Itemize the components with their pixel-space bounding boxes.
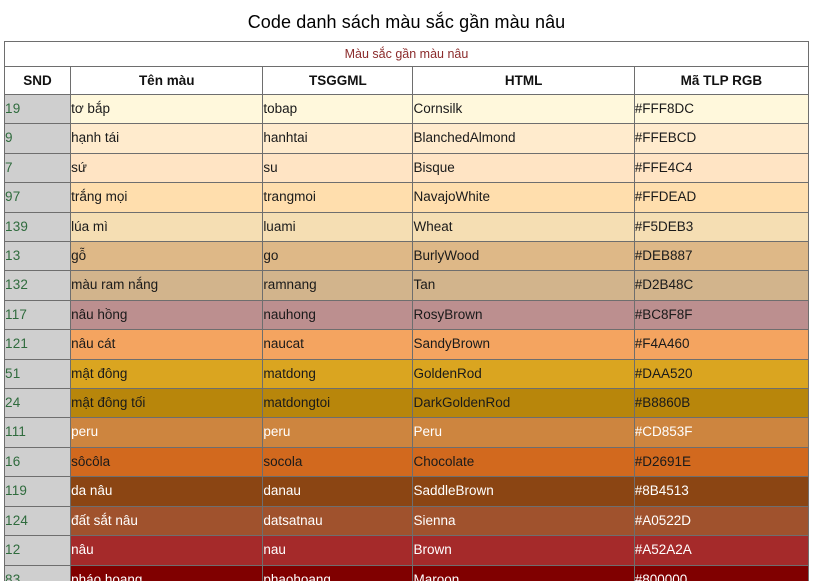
cell-html-name: Cornsilk [413, 95, 634, 124]
cell-rgb-code: #F5DEB3 [634, 212, 808, 241]
cell-tsggml: matdong [263, 359, 413, 388]
cell-rgb-code: #B8860B [634, 389, 808, 418]
cell-html-name: SaddleBrown [413, 477, 634, 506]
cell-rgb-code: #F4A460 [634, 330, 808, 359]
column-header-tsggml[interactable]: TSGGML [263, 67, 413, 95]
cell-ten-mau: trắng mọi [71, 183, 263, 212]
cell-tsggml: tobap [263, 95, 413, 124]
table-row[interactable]: 97trắng mọitrangmoiNavajoWhite#FFDEAD [5, 183, 809, 212]
cell-ten-mau: peru [71, 418, 263, 447]
cell-tsggml: nau [263, 536, 413, 565]
cell-snd: 16 [5, 447, 71, 476]
column-header-ma-tlp-rgb[interactable]: Mã TLP RGB [634, 67, 808, 95]
cell-snd: 119 [5, 477, 71, 506]
cell-rgb-code: #8B4513 [634, 477, 808, 506]
cell-html-name: BlanchedAlmond [413, 124, 634, 153]
table-row[interactable]: 16sôcôlasocolaChocolate#D2691E [5, 447, 809, 476]
cell-rgb-code: #DAA520 [634, 359, 808, 388]
cell-tsggml: trangmoi [263, 183, 413, 212]
table-row[interactable]: 24mật đông tốimatdongtoiDarkGoldenRod#B8… [5, 389, 809, 418]
cell-tsggml: nauhong [263, 300, 413, 329]
cell-ten-mau: sứ [71, 153, 263, 182]
cell-ten-mau: màu ram nắng [71, 271, 263, 300]
color-table: Màu sắc gần màu nâuSNDTên màuTSGGMLHTMLM… [4, 41, 809, 581]
table-row[interactable]: 124đất sắt nâudatsatnauSienna#A0522D [5, 506, 809, 535]
table-row[interactable]: 111peruperuPeru#CD853F [5, 418, 809, 447]
table-row[interactable]: 139lúa mìluamiWheat#F5DEB3 [5, 212, 809, 241]
cell-tsggml: ramnang [263, 271, 413, 300]
cell-html-name: Peru [413, 418, 634, 447]
cell-tsggml: phaohoang [263, 565, 413, 581]
cell-snd: 132 [5, 271, 71, 300]
cell-snd: 24 [5, 389, 71, 418]
cell-snd: 9 [5, 124, 71, 153]
cell-ten-mau: lúa mì [71, 212, 263, 241]
cell-ten-mau: sôcôla [71, 447, 263, 476]
cell-html-name: SandyBrown [413, 330, 634, 359]
cell-html-name: Tan [413, 271, 634, 300]
cell-rgb-code: #A52A2A [634, 536, 808, 565]
cell-ten-mau: nâu hồng [71, 300, 263, 329]
cell-tsggml: go [263, 242, 413, 271]
table-row[interactable]: 132màu ram nắngramnangTan#D2B48C [5, 271, 809, 300]
cell-rgb-code: #BC8F8F [634, 300, 808, 329]
table-row[interactable]: 13gỗgoBurlyWood#DEB887 [5, 242, 809, 271]
cell-html-name: RosyBrown [413, 300, 634, 329]
table-row[interactable]: 19tơ bắptobapCornsilk#FFF8DC [5, 95, 809, 124]
column-header-ten-mau[interactable]: Tên màu [71, 67, 263, 95]
cell-rgb-code: #DEB887 [634, 242, 808, 271]
column-header-snd[interactable]: SND [5, 67, 71, 95]
cell-ten-mau: mật đông [71, 359, 263, 388]
cell-tsggml: peru [263, 418, 413, 447]
cell-html-name: NavajoWhite [413, 183, 634, 212]
cell-snd: 83 [5, 565, 71, 581]
cell-html-name: Brown [413, 536, 634, 565]
table-row[interactable]: 51mật đôngmatdongGoldenRod#DAA520 [5, 359, 809, 388]
cell-ten-mau: tơ bắp [71, 95, 263, 124]
cell-tsggml: hanhtai [263, 124, 413, 153]
cell-rgb-code: #CD853F [634, 418, 808, 447]
table-row[interactable]: 83pháo hoangphaohoangMaroon#800000 [5, 565, 809, 581]
cell-ten-mau: pháo hoang [71, 565, 263, 581]
cell-rgb-code: #D2691E [634, 447, 808, 476]
cell-ten-mau: nâu [71, 536, 263, 565]
cell-rgb-code: #800000 [634, 565, 808, 581]
cell-html-name: DarkGoldenRod [413, 389, 634, 418]
table-row[interactable]: 121nâu cátnaucatSandyBrown#F4A460 [5, 330, 809, 359]
cell-ten-mau: da nâu [71, 477, 263, 506]
cell-snd: 111 [5, 418, 71, 447]
cell-snd: 117 [5, 300, 71, 329]
table-header-row: SNDTên màuTSGGMLHTMLMã TLP RGB [5, 67, 809, 95]
cell-snd: 97 [5, 183, 71, 212]
cell-html-name: Wheat [413, 212, 634, 241]
cell-snd: 121 [5, 330, 71, 359]
cell-snd: 139 [5, 212, 71, 241]
cell-snd: 13 [5, 242, 71, 271]
table-row[interactable]: 12nâunauBrown#A52A2A [5, 536, 809, 565]
page-title: Code danh sách màu sắc gần màu nâu [0, 0, 813, 33]
cell-snd: 7 [5, 153, 71, 182]
cell-snd: 19 [5, 95, 71, 124]
cell-snd: 124 [5, 506, 71, 535]
cell-ten-mau: hạnh tái [71, 124, 263, 153]
cell-html-name: Bisque [413, 153, 634, 182]
cell-rgb-code: #D2B48C [634, 271, 808, 300]
table-row[interactable]: 119da nâudanauSaddleBrown#8B4513 [5, 477, 809, 506]
cell-tsggml: datsatnau [263, 506, 413, 535]
table-row[interactable]: 117nâu hồngnauhongRosyBrown#BC8F8F [5, 300, 809, 329]
cell-ten-mau: nâu cát [71, 330, 263, 359]
cell-tsggml: su [263, 153, 413, 182]
cell-rgb-code: #A0522D [634, 506, 808, 535]
cell-rgb-code: #FFF8DC [634, 95, 808, 124]
cell-rgb-code: #FFE4C4 [634, 153, 808, 182]
cell-tsggml: naucat [263, 330, 413, 359]
color-table-container: Màu sắc gần màu nâuSNDTên màuTSGGMLHTMLM… [4, 41, 809, 581]
table-row[interactable]: 7sứsuBisque#FFE4C4 [5, 153, 809, 182]
cell-tsggml: matdongtoi [263, 389, 413, 418]
cell-ten-mau: mật đông tối [71, 389, 263, 418]
column-header-html[interactable]: HTML [413, 67, 634, 95]
cell-ten-mau: gỗ [71, 242, 263, 271]
cell-snd: 12 [5, 536, 71, 565]
cell-tsggml: socola [263, 447, 413, 476]
cell-tsggml: danau [263, 477, 413, 506]
cell-html-name: Maroon [413, 565, 634, 581]
cell-html-name: BurlyWood [413, 242, 634, 271]
cell-html-name: GoldenRod [413, 359, 634, 388]
table-caption-row: Màu sắc gần màu nâu [5, 42, 809, 67]
cell-rgb-code: #FFDEAD [634, 183, 808, 212]
table-caption: Màu sắc gần màu nâu [5, 42, 809, 67]
cell-rgb-code: #FFEBCD [634, 124, 808, 153]
cell-html-name: Chocolate [413, 447, 634, 476]
cell-html-name: Sienna [413, 506, 634, 535]
cell-ten-mau: đất sắt nâu [71, 506, 263, 535]
color-table-body: Màu sắc gần màu nâuSNDTên màuTSGGMLHTMLM… [5, 42, 809, 581]
table-row[interactable]: 9hạnh táihanhtaiBlanchedAlmond#FFEBCD [5, 124, 809, 153]
cell-snd: 51 [5, 359, 71, 388]
cell-tsggml: luami [263, 212, 413, 241]
